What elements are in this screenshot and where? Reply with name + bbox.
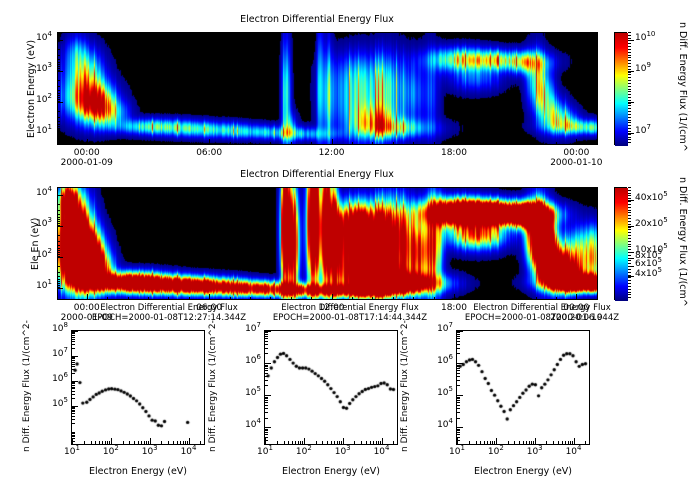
xtick-label: 06:00 (189, 148, 229, 158)
colorbar-tick-minor (628, 232, 631, 233)
spectrum-xtick-minor (585, 441, 586, 445)
spectrum-2-title: Electron Differential Energy Flux (255, 303, 445, 313)
colorbar-tick-minor (628, 201, 631, 202)
spectrum-xtick-minor (105, 441, 106, 445)
spectrogram-top-ylabel: Electron Energy (eV) (26, 40, 37, 138)
colorbar-tick-minor (628, 235, 631, 236)
spectrum-xtick-label: 101 (443, 447, 471, 457)
spectrum-ytick-minor (265, 397, 268, 398)
xtick-minor (209, 297, 210, 300)
xtick-minor (454, 142, 455, 145)
spectrum-ytick-minor (72, 358, 75, 359)
spectrum-xtick-minor (331, 441, 332, 445)
ytick-minor (57, 90, 60, 91)
colorbar-tick-minor (628, 275, 631, 276)
ytick-minor (57, 210, 60, 211)
xtick-minor (87, 142, 88, 145)
xtick-minor (495, 297, 496, 300)
spectrum-ytick-minor (265, 341, 268, 342)
spectrum-xtick-minor (129, 441, 130, 445)
colorbar-tick-minor (628, 190, 631, 191)
xtick-minor (495, 142, 496, 145)
colorbar-tick-minor (628, 139, 631, 140)
xtick-minor (434, 297, 435, 300)
spectrum-xtick-minor (316, 441, 317, 445)
ytick-minor (57, 64, 60, 65)
ytick-minor (57, 121, 60, 122)
spectrum-xtick-mark (343, 438, 344, 444)
ytick-minor (57, 266, 60, 267)
spectrum-3-epoch: EPOCH=2000-01-08T20:20:06.944Z (432, 313, 652, 323)
xtick-minor (168, 142, 169, 145)
spectrum-ytick-minor (265, 338, 268, 339)
ytick-mark (57, 40, 63, 41)
spectrum-ytick-minor (72, 398, 75, 399)
spectrum-xtick-minor (341, 441, 342, 445)
spectrum-ytick-minor (457, 429, 460, 430)
colorbar-tick-minor (628, 43, 631, 44)
spectrum-ytick-minor (265, 430, 268, 431)
xtick-minor (434, 142, 435, 145)
colorbar-tick-minor (628, 40, 631, 41)
spectrum-xtick-minor (492, 441, 493, 445)
spectrum-xtick-label: 103 (329, 447, 357, 457)
colorbar-tick-minor (628, 83, 631, 84)
spectrum-ytick-minor (72, 364, 75, 365)
colorbar-tick-minor (628, 204, 631, 205)
ytick-minor (57, 279, 60, 280)
spectrum-ytick-minor (457, 405, 460, 406)
colorbar-tick-minor (628, 35, 631, 36)
ytick-minor (57, 55, 60, 56)
colorbar-tick-minor (628, 210, 631, 211)
spectrum-ytick-minor (72, 369, 75, 370)
spectrum-ytick-minor (72, 344, 75, 345)
spectrum-ytick-minor (265, 405, 268, 406)
ytick-minor (57, 214, 60, 215)
xtick-minor (332, 142, 333, 145)
spectrum-ytick-minor (457, 338, 460, 339)
spectrum-ytick-minor (72, 413, 75, 414)
spectrum-xtick-minor (337, 441, 338, 445)
spectrum-xtick-minor (508, 441, 509, 445)
xtick-minor (107, 142, 108, 145)
colorbar-tick-minor (628, 120, 631, 121)
spectrum-ytick-minor (265, 348, 268, 349)
colorbar-tick-minor (628, 260, 631, 261)
xtick-minor (270, 142, 271, 145)
spectrum-xtick-minor (302, 441, 303, 445)
ytick-mark (57, 71, 63, 72)
ytick-label: 102 (24, 250, 52, 260)
spectrum-ytick-minor (265, 402, 268, 403)
spectrum-ytick-minor (72, 407, 75, 408)
spectrum-ytick-label: 107 (44, 349, 68, 359)
spectrum-ytick-minor (265, 332, 268, 333)
xtick-minor (352, 297, 353, 300)
ytick-mark (57, 102, 63, 103)
spectrum-ytick-minor (457, 376, 460, 377)
spectrum-ytick-minor (72, 360, 75, 361)
ytick-minor (57, 245, 60, 246)
spectrum-ytick-minor (457, 430, 460, 431)
xtick-minor (311, 297, 312, 300)
spectrum-xtick-minor (565, 441, 566, 445)
spectrum-xtick-mark (265, 438, 266, 444)
spectrum-ytick-minor (72, 362, 75, 363)
ytick-minor (57, 281, 60, 282)
colorbar-tick-minor (628, 263, 631, 264)
spectrum-ytick-minor (72, 394, 75, 395)
xtick-label: 18:00 (434, 148, 474, 158)
xtick-minor (87, 297, 88, 300)
ytick-minor (57, 250, 60, 251)
spectrum-xtick-minor (393, 441, 394, 445)
spectrum-ytick-minor (457, 344, 460, 345)
spectrum-xtick-minor (292, 441, 293, 445)
xtick-minor (148, 142, 149, 145)
ytick-label: 101 (24, 281, 52, 291)
colorbar-tick-minor (628, 212, 631, 213)
spectrum-ytick-label: 108 (44, 324, 68, 334)
xtick-minor (189, 297, 190, 300)
spectrum-ytick-minor (72, 435, 75, 436)
xtick-date: 2000-01-10 (546, 158, 606, 168)
colorbar-tick-minor (628, 224, 631, 225)
colorbar-tick-minor (628, 117, 631, 118)
spectrum-ytick-minor (265, 366, 268, 367)
xtick-minor (515, 297, 516, 300)
ytick-minor (57, 101, 60, 102)
spectrum-xtick-minor (168, 441, 169, 445)
spectrum-xtick-minor (519, 441, 520, 445)
spectrum-2-xlabel: Electron Energy (eV) (261, 466, 401, 477)
spectrum-ytick-minor (265, 334, 268, 335)
colorbar-tick-minor (628, 241, 631, 242)
ytick-minor (57, 287, 60, 288)
colorbar-tick-minor (628, 77, 631, 78)
colorbar-tick-minor (628, 221, 631, 222)
colorbar-tick-minor (628, 246, 631, 247)
xtick-label: 12:00 (312, 148, 352, 158)
spectrum-ytick-label: 106 (429, 356, 453, 366)
spectrum-xtick-label: 103 (521, 447, 549, 457)
spectrum-ytick-minor (72, 335, 75, 336)
spectrum-3-ylabel: n Diff. Energy Flux (1/(cm^2- (400, 320, 410, 452)
spectrum-ytick-minor (72, 357, 75, 358)
spectrum-3-title: Electron Differential Energy Flux (447, 303, 637, 313)
spectrum-xtick-minor (553, 441, 554, 445)
xtick-minor (311, 142, 312, 145)
spectrum-xtick-minor (161, 441, 162, 445)
xtick-minor (515, 142, 516, 145)
spectrum-xtick-minor (531, 441, 532, 445)
spectrum-ytick-minor (457, 370, 460, 371)
xtick-minor (332, 297, 333, 300)
spectrum-xtick-minor (523, 441, 524, 445)
colorbar-tick-minor (628, 297, 631, 298)
colorbar-tick-minor (628, 128, 631, 129)
spectrum-ytick-minor (457, 380, 460, 381)
spectrum-ytick-minor (72, 433, 75, 434)
colorbar-tick-minor (628, 91, 631, 92)
xtick-minor (556, 297, 557, 300)
spectrum-xtick-minor (570, 441, 571, 445)
colorbar-tick-minor (628, 249, 631, 250)
spectrum-ytick-minor (72, 383, 75, 384)
spectrum-xtick-minor (562, 441, 563, 445)
spectrum-ytick-minor (72, 348, 75, 349)
spectrum-ytick-minor (72, 419, 75, 420)
ytick-minor (57, 256, 60, 257)
spectrum-xtick-minor (490, 441, 491, 445)
spectrum-xtick-minor (141, 441, 142, 445)
spectrum-xtick-minor (107, 441, 108, 445)
spectrum-xtick-label: 102 (290, 447, 318, 457)
spectrum-ytick-label: 107 (237, 324, 261, 334)
ytick-minor (57, 80, 60, 81)
spectrum-xtick-minor (138, 441, 139, 445)
colorbar-tick-minor (628, 280, 631, 281)
colorbar-tick-minor (628, 89, 631, 90)
spectrum-ytick-minor (72, 416, 75, 417)
spectrum-ytick-minor (265, 344, 268, 345)
xtick-minor (128, 142, 129, 145)
spectrum-xtick-minor (185, 441, 186, 445)
spectrum-xtick-minor (99, 441, 100, 445)
spectrum-xtick-minor (487, 441, 488, 445)
spectrum-ytick-minor (457, 341, 460, 342)
colorbar-top-label: n Diff. Energy Flux (1/(cm^ (677, 22, 688, 152)
colorbar-tick-minor (628, 74, 631, 75)
xtick-minor (474, 297, 475, 300)
spectrum-xtick-minor (123, 441, 124, 445)
colorbar-tick-minor (628, 215, 631, 216)
spectrum-ytick-minor (72, 333, 75, 334)
spectrum-xtick-minor (84, 441, 85, 445)
colorbar-tick-minor (628, 292, 631, 293)
spectrum-xtick-minor (134, 441, 135, 445)
ytick-mark (57, 195, 63, 196)
spectrum-ytick-label: 105 (429, 388, 453, 398)
colorbar-tick-minor (628, 207, 631, 208)
colorbar-tick-minor (628, 52, 631, 53)
xtick-label: 00:00 (556, 148, 596, 158)
spectrum-xtick-minor (378, 441, 379, 445)
spectrum-xtick-minor (546, 441, 547, 445)
spectrum-xtick-minor (109, 441, 110, 445)
spectrum-xtick-minor (572, 441, 573, 445)
spectrum-ytick-minor (457, 332, 460, 333)
xtick-minor (230, 142, 231, 145)
spectrum-xtick-minor (322, 441, 323, 445)
spectrum-xtick-minor (334, 441, 335, 445)
colorbar-tick-minor (628, 238, 631, 239)
colorbar-tick-minor (628, 94, 631, 95)
colorbar-bottom (614, 187, 627, 300)
xtick-minor (536, 297, 537, 300)
colorbar-tick-minor (628, 72, 631, 73)
spectrogram-top-plot (57, 32, 598, 145)
spectrum-ytick-minor (265, 376, 268, 377)
xtick-minor (393, 297, 394, 300)
spectrum-xtick-minor (476, 441, 477, 445)
spectrum-xtick-mark (382, 438, 383, 444)
colorbar-tick-minor (628, 111, 631, 112)
spectrum-ytick-minor (265, 385, 268, 386)
spectrum-xtick-minor (146, 441, 147, 445)
spectrum-3-plot (456, 330, 590, 445)
xtick-minor (413, 142, 414, 145)
colorbar-bottom-gradient (615, 188, 628, 301)
xtick-label: 00:00 (67, 148, 107, 158)
spectrum-xtick-minor (469, 441, 470, 445)
spectrum-ytick-minor (265, 336, 268, 337)
xtick-minor (148, 297, 149, 300)
ytick-mark (57, 257, 63, 258)
spectrum-xtick-mark (111, 438, 112, 444)
spectrum-ytick-minor (457, 408, 460, 409)
spectrum-xtick-label: 101 (251, 447, 279, 457)
spectrum-xtick-minor (284, 441, 285, 445)
xtick-minor (270, 297, 271, 300)
spectrum-1-canvas (72, 331, 204, 444)
xtick-minor (128, 297, 129, 300)
colorbar-tick-minor (628, 46, 631, 47)
colorbar-tick-minor (628, 187, 631, 188)
spectrum-ytick-minor (72, 411, 75, 412)
colorbar-tick-minor (628, 103, 631, 104)
spectrum-xtick-minor (484, 441, 485, 445)
xtick-minor (291, 297, 292, 300)
ytick-minor (57, 132, 60, 133)
colorbar-tick-minor (628, 80, 631, 81)
spectrum-xtick-minor (173, 441, 174, 445)
spectrum-ytick-minor (72, 388, 75, 389)
spectrum-xtick-label: 102 (97, 447, 125, 457)
colorbar-tick-minor (628, 105, 631, 106)
spectrum-3-xlabel: Electron Energy (eV) (453, 466, 593, 477)
colorbar-tick-minor (628, 258, 631, 259)
spectrogram-top-title: Electron Differential Energy Flux (167, 14, 467, 25)
ytick-minor (57, 111, 60, 112)
spectrum-xtick-mark (457, 438, 458, 444)
spectrum-ytick-minor (265, 418, 268, 419)
spectrum-xtick-mark (72, 438, 73, 444)
ytick-label: 103 (24, 64, 52, 74)
spectrum-ytick-minor (457, 373, 460, 374)
spectrum-ytick-minor (457, 397, 460, 398)
colorbar-tick-minor (628, 198, 631, 199)
spectrum-xtick-minor (183, 441, 184, 445)
spectrum-ytick-minor (457, 368, 460, 369)
xtick-minor (230, 297, 231, 300)
colorbar-tick-minor (628, 131, 631, 132)
colorbar-tick-label: 40x105 (635, 193, 668, 203)
spectrum-ytick-minor (265, 368, 268, 369)
spectrum-xtick-minor (177, 441, 178, 445)
spectrum-xtick-minor (288, 441, 289, 445)
spectrum-xtick-label: 104 (175, 447, 203, 457)
spectrum-ytick-minor (72, 410, 75, 411)
ytick-minor (57, 59, 60, 60)
ytick-minor (57, 93, 60, 94)
xtick-minor (576, 142, 577, 145)
spectrum-2-canvas (265, 331, 397, 444)
colorbar-tick-minor (628, 125, 631, 126)
colorbar-top (614, 32, 627, 145)
colorbar-tick-minor (628, 272, 631, 273)
spectrum-ytick-minor (457, 432, 460, 433)
spectrum-ytick-minor (457, 400, 460, 401)
colorbar-tick-label: 109 (635, 64, 651, 74)
spectrum-xtick-minor (180, 441, 181, 445)
ytick-minor (57, 241, 60, 242)
xtick-minor (576, 297, 577, 300)
spectrum-2-ylabel: n Diff. Energy Flux (1/(cm^2- (208, 320, 218, 452)
colorbar-tick-minor (628, 142, 631, 143)
spectrum-xtick-label: 101 (58, 447, 86, 457)
spectrum-xtick-mark (574, 438, 575, 444)
spectrum-xtick-minor (339, 441, 340, 445)
ytick-minor (57, 126, 60, 127)
spectrum-ytick-minor (72, 423, 75, 424)
ytick-minor (57, 49, 60, 50)
spectrum-xtick-mark (150, 438, 151, 444)
ytick-minor (57, 117, 60, 118)
colorbar-tick-minor (628, 244, 631, 245)
spectrogram-bottom-plot (57, 187, 598, 300)
spectrum-ytick-minor (72, 366, 75, 367)
spectrum-1-title: Electron Differential Energy Flux (74, 303, 264, 313)
ytick-label: 102 (24, 95, 52, 105)
spectrum-1-ylabel: n Diff. Energy Flux (1/(cm^2- (22, 320, 32, 452)
xtick-minor (372, 297, 373, 300)
spectrum-ytick-minor (72, 339, 75, 340)
spectrum-ytick-label: 104 (429, 420, 453, 430)
spectrum-xtick-minor (95, 441, 96, 445)
spectrum-ytick-minor (265, 434, 268, 435)
ytick-mark (57, 226, 63, 227)
colorbar-tick-label: 1010 (635, 33, 655, 43)
colorbar-tick-minor (628, 86, 631, 87)
spectrum-ytick-minor (457, 412, 460, 413)
spectrum-ytick-minor (457, 434, 460, 435)
spectrum-ytick-minor (457, 418, 460, 419)
colorbar-tick-minor (628, 134, 631, 135)
spectrum-ytick-minor (72, 385, 75, 386)
spectrum-3-canvas (457, 331, 589, 444)
spectrum-xtick-minor (494, 441, 495, 445)
spectrum-xtick-minor (526, 441, 527, 445)
colorbar-tick-minor (628, 122, 631, 123)
ytick-label: 104 (24, 188, 52, 198)
spectrum-xtick-minor (533, 441, 534, 445)
ytick-minor (57, 219, 60, 220)
colorbar-tick-minor (628, 193, 631, 194)
colorbar-tick-minor (628, 269, 631, 270)
colorbar-tick-minor (628, 114, 631, 115)
colorbar-tick-minor (628, 283, 631, 284)
spectrum-ytick-label: 105 (44, 399, 68, 409)
colorbar-tick-minor (628, 97, 631, 98)
spectrum-xtick-minor (370, 441, 371, 445)
spectrum-ytick-minor (265, 429, 268, 430)
xtick-minor (250, 297, 251, 300)
spectrum-ytick-label: 106 (44, 374, 68, 384)
colorbar-tick-minor (628, 49, 631, 50)
ytick-minor (57, 62, 60, 63)
